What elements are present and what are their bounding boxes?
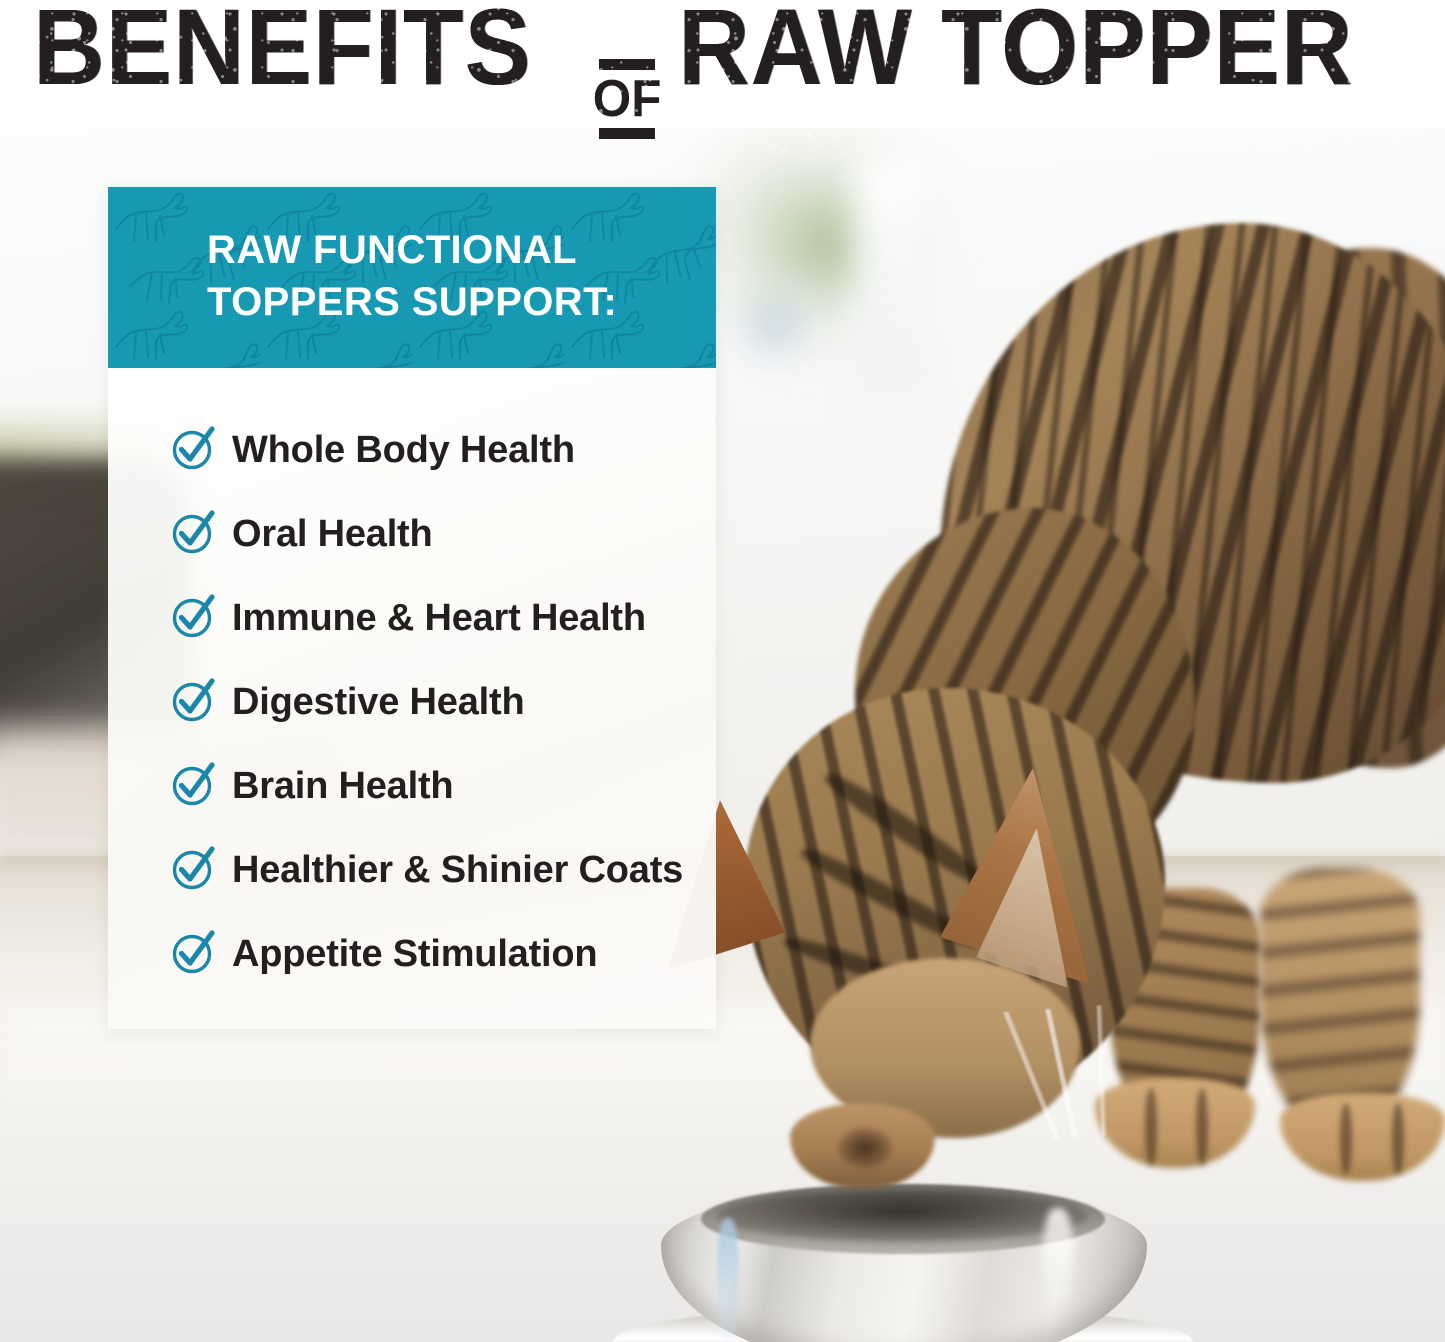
card-header: RAW FUNCTIONAL TOPPERS SUPPORT:: [108, 187, 716, 368]
bowl-inner-shadow: [718, 1190, 1088, 1242]
check-circle-icon: [170, 845, 216, 891]
title-word-of: OF: [593, 70, 662, 128]
benefits-card: RAW FUNCTIONAL TOPPERS SUPPORT: Whole Bo…: [108, 187, 716, 1029]
title-of-rule-bottom: [599, 128, 655, 139]
check-circle-icon: [170, 761, 216, 807]
list-item-label: Healthier & Shinier Coats: [232, 851, 683, 889]
bowl-highlight-left: [717, 1218, 739, 1338]
cat-nose-shadow: [838, 1128, 892, 1168]
check-circle-icon: [170, 425, 216, 471]
benefits-list: Whole Body Health Oral Health: [108, 368, 716, 1029]
list-item-label: Appetite Stimulation: [232, 935, 597, 973]
bowl-highlight-right: [1043, 1208, 1073, 1308]
list-item-label: Digestive Health: [232, 683, 524, 721]
cat-paw-toe: [1340, 1103, 1352, 1175]
title-word-raw-topper: RAW TOPPER: [678, 1, 1353, 94]
list-item: Digestive Health: [108, 660, 716, 744]
card-header-line-1: RAW FUNCTIONAL: [207, 225, 702, 277]
title-of-group: OF: [591, 59, 663, 139]
check-circle-icon: [170, 677, 216, 723]
list-item: Healthier & Shinier Coats: [108, 828, 716, 912]
list-item-label: Oral Health: [232, 515, 433, 553]
list-item: Oral Health: [108, 492, 716, 576]
cat-paw-toe: [1392, 1103, 1404, 1175]
list-item: Whole Body Health: [108, 408, 716, 492]
list-item-label: Whole Body Health: [232, 431, 575, 469]
list-item: Appetite Stimulation: [108, 912, 716, 996]
benefits-of-raw-topper-graphic: BENEFITS OF RAW TOPPER: [0, 0, 1445, 1342]
list-item: Brain Health: [108, 744, 716, 828]
check-circle-icon: [170, 593, 216, 639]
list-item: Immune & Heart Health: [108, 576, 716, 660]
title-band: BENEFITS OF RAW TOPPER: [0, 0, 1445, 128]
check-circle-icon: [170, 509, 216, 555]
pet-food-bowl: [613, 1166, 1193, 1342]
list-item-label: Brain Health: [232, 767, 453, 805]
list-item-label: Immune & Heart Health: [232, 599, 646, 637]
title-of-rule-top: [599, 59, 655, 70]
cat-whiskers: [896, 997, 1234, 1150]
page-title: BENEFITS OF RAW TOPPER: [33, 1, 1411, 153]
card-header-line-2: TOPPERS SUPPORT:: [207, 277, 702, 329]
cat-illustration: [640, 128, 1445, 1148]
check-circle-icon: [170, 929, 216, 975]
card-header-title: RAW FUNCTIONAL TOPPERS SUPPORT:: [207, 225, 702, 328]
title-word-benefits: BENEFITS: [33, 1, 532, 94]
